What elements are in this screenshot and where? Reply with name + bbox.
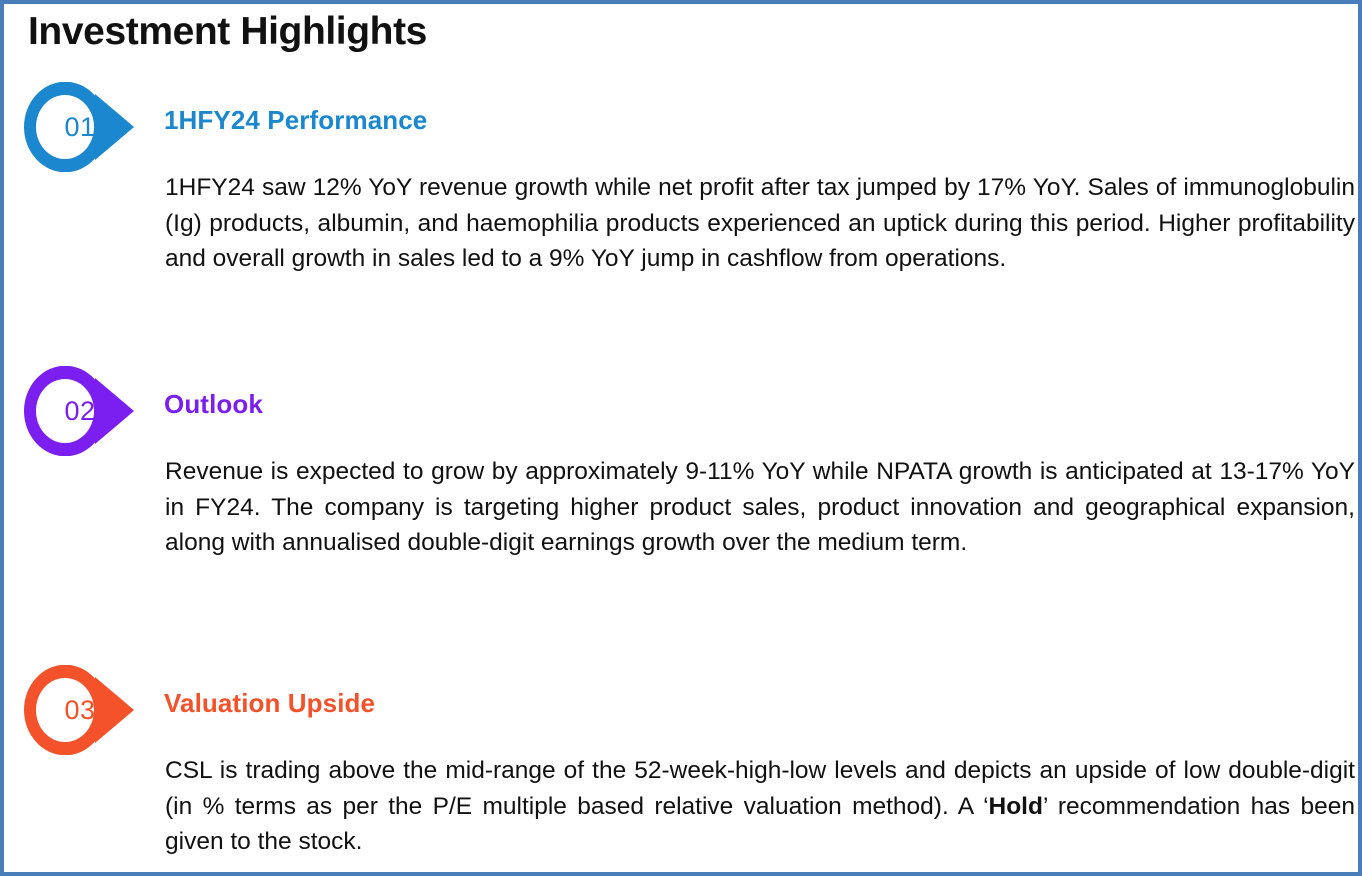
section-heading-3: Valuation Upside <box>164 688 375 719</box>
step-badge-03: 03 <box>20 665 138 755</box>
step-number-03: 03 <box>36 665 124 755</box>
step-badge-02: 02 <box>20 366 138 456</box>
step-number-02: 02 <box>36 366 124 456</box>
section-heading-1: 1HFY24 Performance <box>164 105 427 136</box>
section-body-1: 1HFY24 saw 12% YoY revenue growth while … <box>165 170 1355 277</box>
section-body-3-bold: Hold <box>989 793 1043 820</box>
section-body-3: CSL is trading above the mid-range of th… <box>165 753 1355 860</box>
section-body-2: Revenue is expected to grow by approxima… <box>165 454 1355 561</box>
step-number-01: 01 <box>36 82 124 172</box>
investment-highlights-page: Investment Highlights 01 1HFY24 Performa… <box>0 0 1362 876</box>
step-badge-01: 01 <box>20 82 138 172</box>
section-heading-2: Outlook <box>164 389 263 420</box>
page-title: Investment Highlights <box>28 10 427 54</box>
